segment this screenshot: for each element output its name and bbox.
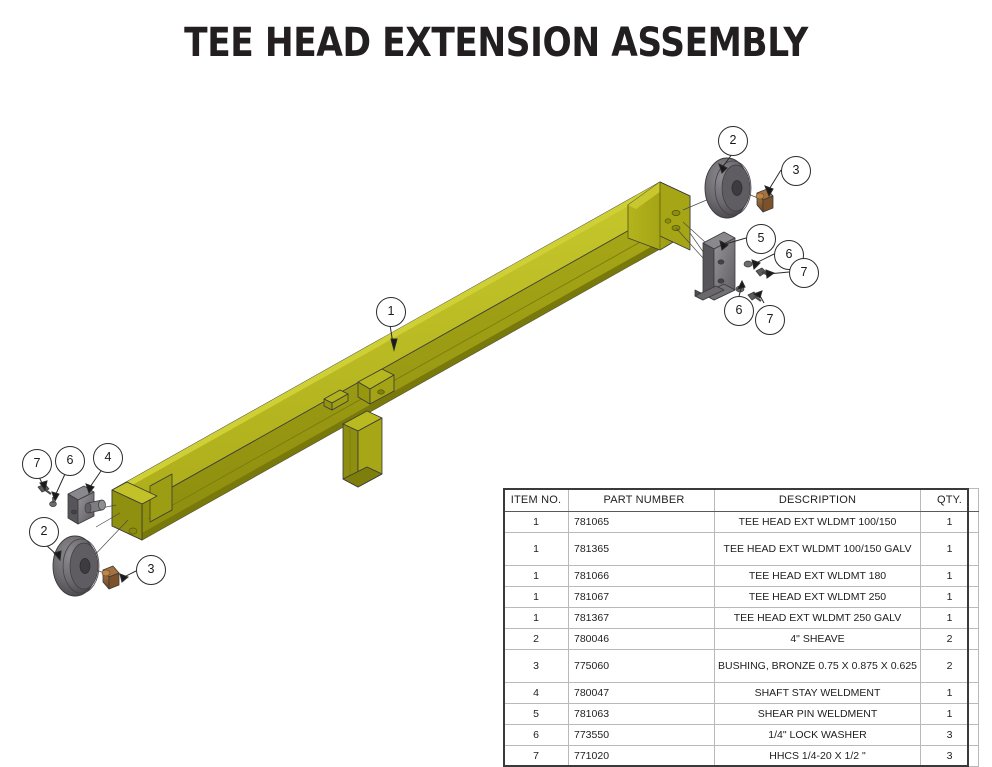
cell-description: SHAFT STAY WELDMENT: [715, 683, 921, 704]
cell-qty: 1: [921, 683, 979, 704]
parts-table-container: ITEM NO. PART NUMBER DESCRIPTION QTY. 17…: [503, 488, 969, 767]
balloon-7-hhcs-lower: 7: [755, 305, 785, 335]
cell-description: TEE HEAD EXT WLDMT 250: [715, 587, 921, 608]
table-row: 5781063SHEAR PIN WELDMENT1: [504, 704, 979, 725]
cell-part-number: 781065: [569, 512, 715, 533]
cell-qty: 1: [921, 704, 979, 725]
cell-qty: 2: [921, 650, 979, 683]
header-description: DESCRIPTION: [715, 489, 921, 512]
cell-description: TEE HEAD EXT WLDMT 250 GALV: [715, 608, 921, 629]
cell-item-no: 1: [504, 566, 569, 587]
cell-item-no: 5: [504, 704, 569, 725]
cell-part-number: 771020: [569, 746, 715, 767]
balloon-2-sheave-upper: 2: [718, 126, 748, 156]
cell-item-no: 3: [504, 650, 569, 683]
cell-item-no: 1: [504, 512, 569, 533]
cell-part-number: 781365: [569, 533, 715, 566]
cell-qty: 2: [921, 629, 979, 650]
cell-item-no: 1: [504, 587, 569, 608]
cell-description: SHEAR PIN WELDMENT: [715, 704, 921, 725]
sheave-lower: [53, 536, 99, 596]
balloon-5-shear-pin: 5: [746, 224, 776, 254]
header-part-number: PART NUMBER: [569, 489, 715, 512]
cell-part-number: 773550: [569, 725, 715, 746]
cell-qty: 1: [921, 608, 979, 629]
balloon-4-shaft-stay: 4: [93, 443, 123, 473]
bushing-lower: [102, 566, 119, 589]
fasteners-upper-right: [736, 261, 770, 301]
tee-head-extension-beam: [112, 182, 690, 540]
cell-item-no: 7: [504, 746, 569, 767]
table-row: 7771020HHCS 1/4-20 X 1/2 "3: [504, 746, 979, 767]
balloon-3-bushing-upper: 3: [781, 156, 811, 186]
cell-part-number: 781067: [569, 587, 715, 608]
cell-qty: 1: [921, 533, 979, 566]
table-header-row: ITEM NO. PART NUMBER DESCRIPTION QTY.: [504, 489, 979, 512]
cell-qty: 1: [921, 512, 979, 533]
cell-description: 1/4" LOCK WASHER: [715, 725, 921, 746]
cell-item-no: 1: [504, 533, 569, 566]
cell-part-number: 775060: [569, 650, 715, 683]
cell-item-no: 4: [504, 683, 569, 704]
cell-part-number: 781367: [569, 608, 715, 629]
table-row: 1781365TEE HEAD EXT WLDMT 100/150 GALV1: [504, 533, 979, 566]
header-qty: QTY.: [921, 489, 979, 512]
cell-part-number: 780047: [569, 683, 715, 704]
balloon-7-hhcs-upper: 7: [789, 258, 819, 288]
table-row: 1781066TEE HEAD EXT WLDMT 1801: [504, 566, 979, 587]
cell-description: 4" SHEAVE: [715, 629, 921, 650]
table-row: 67735501/4" LOCK WASHER3: [504, 725, 979, 746]
cell-qty: 1: [921, 566, 979, 587]
header-item-no: ITEM NO.: [504, 489, 569, 512]
cell-description: HHCS 1/4-20 X 1/2 ": [715, 746, 921, 767]
cell-item-no: 1: [504, 608, 569, 629]
table-row: 1781067TEE HEAD EXT WLDMT 2501: [504, 587, 979, 608]
sheave-upper: [705, 158, 751, 218]
cell-description: TEE HEAD EXT WLDMT 100/150 GALV: [715, 533, 921, 566]
balloon-1-beam: 1: [376, 297, 406, 327]
table-row: 1781065TEE HEAD EXT WLDMT 100/1501: [504, 512, 979, 533]
balloon-7-hhcs-left: 7: [22, 449, 52, 479]
cell-description: TEE HEAD EXT WLDMT 180: [715, 566, 921, 587]
table-row: 27800464" SHEAVE2: [504, 629, 979, 650]
table-row: 1781367TEE HEAD EXT WLDMT 250 GALV1: [504, 608, 979, 629]
cell-description: BUSHING, BRONZE 0.75 X 0.875 X 0.625: [715, 650, 921, 683]
cell-description: TEE HEAD EXT WLDMT 100/150: [715, 512, 921, 533]
balloon-6-lock-washer-left: 6: [55, 446, 85, 476]
cell-qty: 3: [921, 746, 979, 767]
balloon-2-sheave-lower: 2: [29, 517, 59, 547]
cell-item-no: 6: [504, 725, 569, 746]
cell-part-number: 781063: [569, 704, 715, 725]
cell-item-no: 2: [504, 629, 569, 650]
cell-qty: 1: [921, 587, 979, 608]
cell-part-number: 781066: [569, 566, 715, 587]
shear-pin-weldment: [695, 232, 735, 300]
shaft-stay-weldment: [68, 486, 106, 524]
balloon-6-lock-washer-lower: 6: [724, 296, 754, 326]
table-row: 3775060BUSHING, BRONZE 0.75 X 0.875 X 0.…: [504, 650, 979, 683]
cell-qty: 3: [921, 725, 979, 746]
table-row: 4780047SHAFT STAY WELDMENT1: [504, 683, 979, 704]
parts-table: ITEM NO. PART NUMBER DESCRIPTION QTY. 17…: [503, 488, 979, 767]
cell-part-number: 780046: [569, 629, 715, 650]
balloon-3-bushing-lower: 3: [136, 555, 166, 585]
